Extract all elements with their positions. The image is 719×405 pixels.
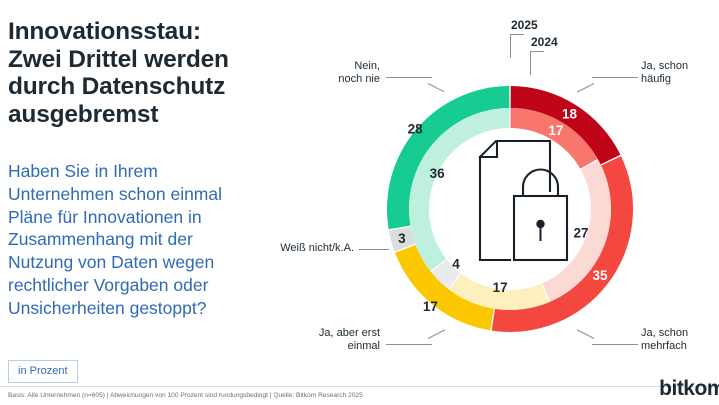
ring-2024 [409,108,611,310]
leader-haeufig [592,77,638,78]
ring-label-2024: 2024 [531,35,558,49]
leader-2025-h [510,34,524,35]
page-title: Innovationsstau: Zwei Drittel werden dur… [8,18,260,129]
segment-value-nein-2024: 36 [430,166,446,181]
segment-value-einmal-2025: 17 [423,299,438,314]
segment-value-weiss-2024: 4 [452,256,460,271]
label-ja-aber-erst-einmal: Ja, aber erst einmal [288,327,380,354]
segment-value-weiss-2025: 3 [398,231,406,246]
label-weiss-nicht: Weiß nicht/k.A. [258,242,354,255]
label-ja-schon-haeufig: Ja, schon häufig [641,60,719,87]
segment-value-nein-2025: 28 [408,122,424,137]
leader-weiss [359,249,389,250]
donut-svg: 181735271717342836 [368,44,652,374]
segment-value-mehrfach-2024: 27 [574,226,589,241]
document-lock-icon [480,141,567,260]
source-footnote: Basis: Alle Unternehmen (n=605) | Abweic… [8,392,708,399]
label-ja-schon-mehrfach: Ja, schon mehrfach [641,327,719,354]
leader-einmal [386,344,432,345]
leader-2024-v [530,51,531,75]
infographic-page: Innovationsstau: Zwei Drittel werden dur… [0,0,719,405]
segment-value-haeufig-2025: 18 [562,107,578,122]
donut-chart: 181735271717342836 2025 2024 [368,44,652,374]
footer-divider [0,386,719,387]
label-nein-noch-nie: Nein, noch nie [296,60,380,87]
segment-value-einmal-2024: 17 [493,280,508,295]
segment-value-mehrfach-2025: 35 [592,268,608,283]
bitkom-logo: bitkom [659,377,719,401]
leader-2025-v [510,34,511,58]
leader-nein [386,77,432,78]
leader-mehrfach [592,344,638,345]
ring-label-2025: 2025 [511,18,538,32]
leader-2024-h [530,51,544,52]
unit-badge: in Prozent [8,360,78,383]
survey-question: Haben Sie in Ihrem Unternehmen schon ein… [8,160,256,319]
segment-value-haeufig-2024: 17 [548,123,563,138]
